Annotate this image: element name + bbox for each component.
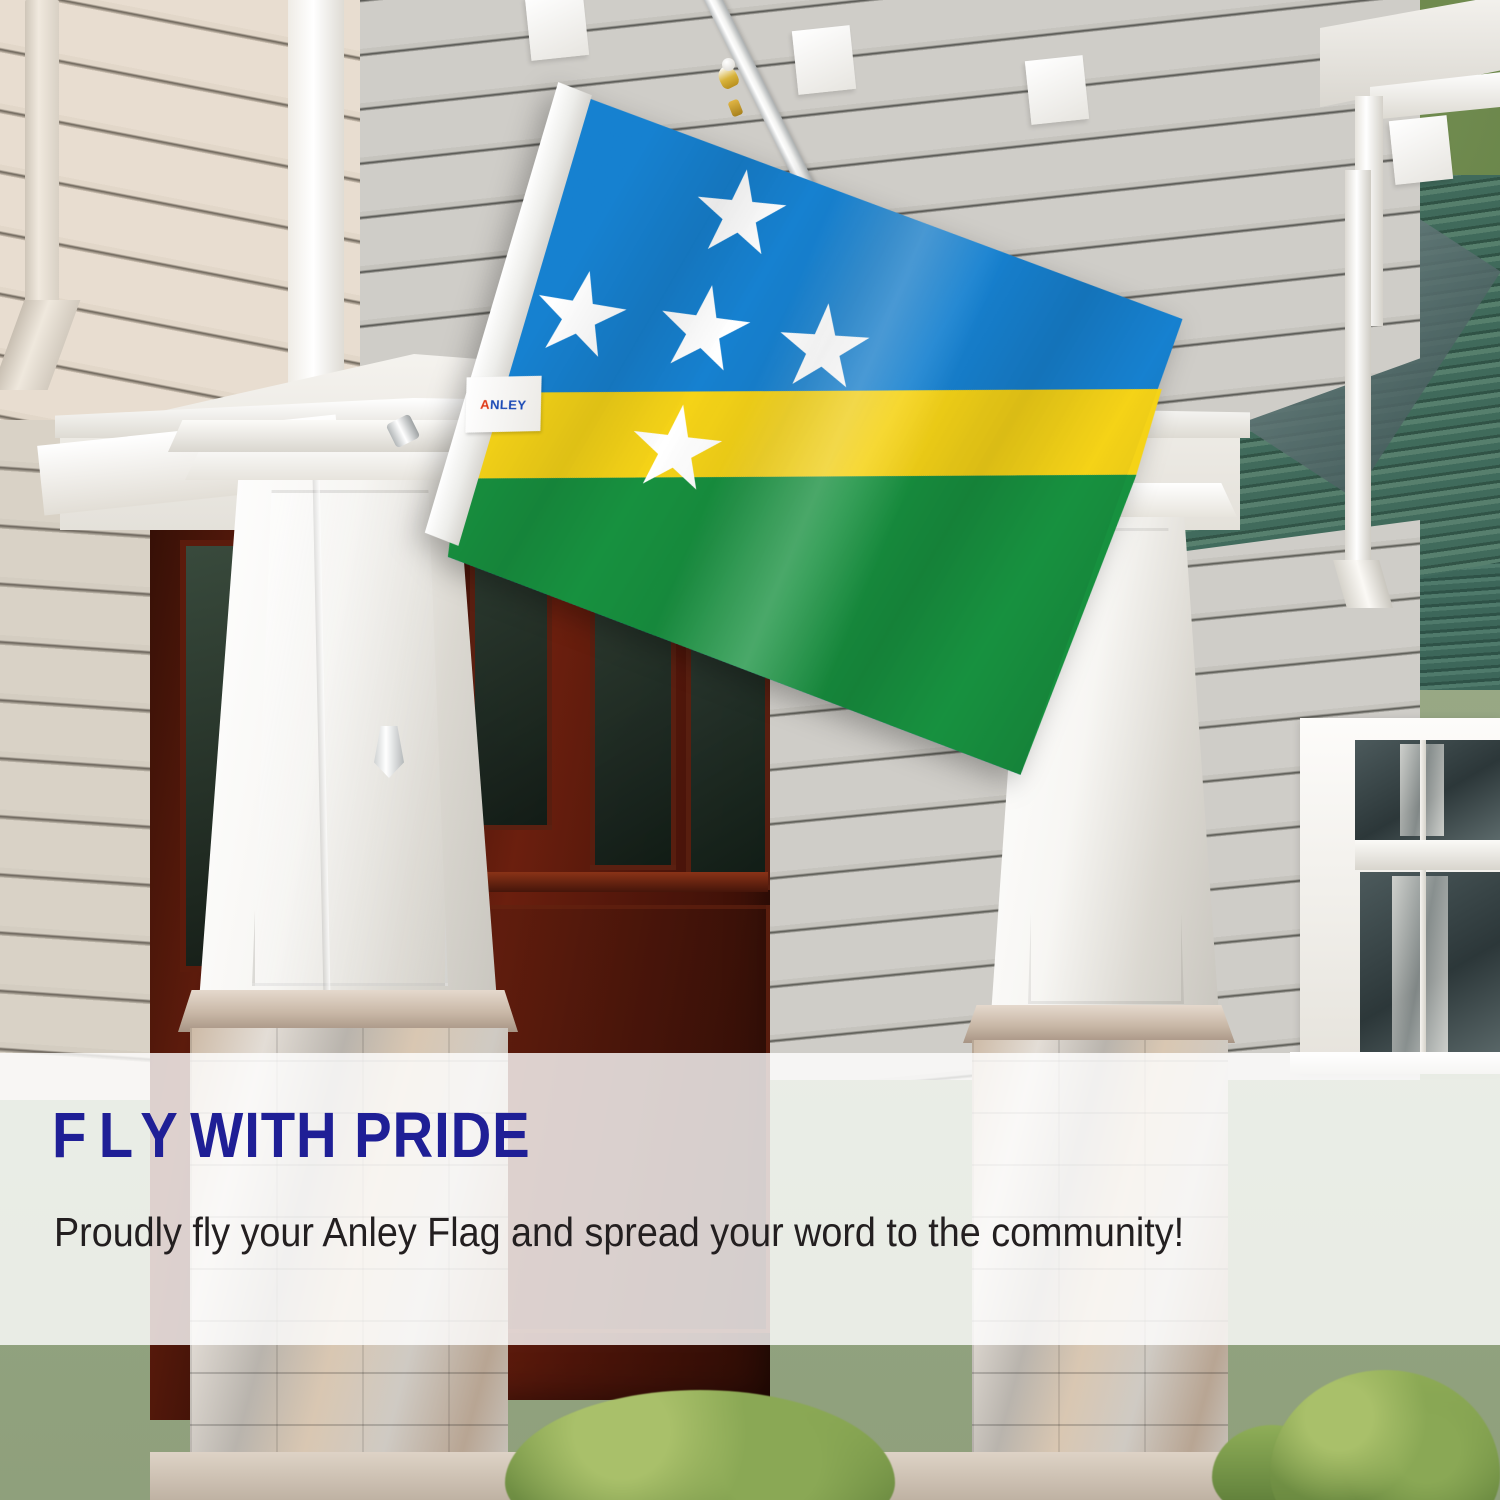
text-overlay-band — [0, 1053, 1500, 1345]
window-mullion-vertical — [1420, 740, 1426, 1062]
siding-mounting-block — [792, 25, 856, 95]
downspout-left — [25, 0, 59, 340]
anley-brand-text: ANLEY — [480, 397, 527, 412]
downspout-right — [1345, 170, 1371, 590]
headline-part2: WITH PRIDE — [190, 1099, 530, 1171]
product-lifestyle-image: ANLEY FLYWITH PRIDE Proudly fly your Anl… — [0, 0, 1500, 1500]
column-base-cap-left — [178, 990, 518, 1032]
siding-mounting-block — [525, 0, 589, 61]
brand-rest: NLEY — [490, 397, 527, 412]
porch-column-left-panel — [252, 490, 448, 986]
headline: FLYWITH PRIDE — [52, 1103, 531, 1167]
anley-brand-tag: ANLEY — [465, 376, 541, 433]
siding-mounting-block — [1025, 55, 1089, 125]
column-base-cap-right — [963, 1005, 1235, 1043]
siding-mounting-block — [1389, 115, 1453, 185]
flagpole-finial-ball — [722, 58, 735, 71]
subheadline: Proudly fly your Anley Flag and spread y… — [54, 1212, 1184, 1253]
headline-part1: FLY — [52, 1099, 190, 1171]
window-mullion-horizontal — [1355, 840, 1500, 870]
